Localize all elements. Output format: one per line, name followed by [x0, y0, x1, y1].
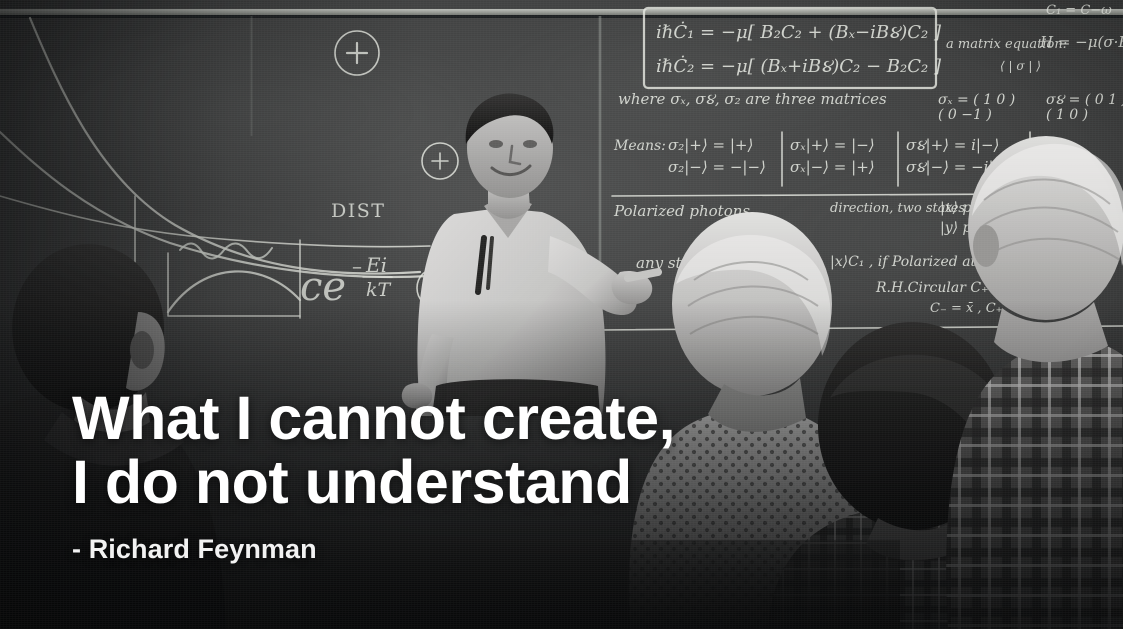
quote-block: What I cannot create, I do not understan… [72, 386, 772, 565]
chalk-boltzmann-factor: ce – Ei kT [300, 253, 392, 310]
chalk-ket-1: σ₂|+⟩ = |+⟩ [668, 136, 753, 154]
chalk-note-c1: C₁ = C−ω [1046, 3, 1112, 18]
quote-line-2: I do not understand [72, 450, 772, 514]
quote-image: DIST ce – Ei kT iℏĊ₁ = −μ[ B₂C₂ + (Bₓ−iB… [0, 0, 1123, 629]
svg-text:iℏĊ₁ = −μ[ B₂C₂ + (Bₓ−iB૪)C₂ ]: iℏĊ₁ = −μ[ B₂C₂ + (Bₓ−iB૪)C₂ ] [656, 20, 942, 43]
chalk-ket-3: σₓ|+⟩ = |−⟩ [790, 136, 875, 154]
student-right [940, 96, 1123, 629]
quote-attribution: - Richard Feynman [72, 534, 772, 565]
chalk-ket-4: σₓ|−⟩ = |+⟩ [790, 158, 875, 176]
chalk-note-expectation: ⟨ | σ | ⟩ [1000, 59, 1041, 73]
circled-plus-icon [335, 31, 379, 75]
chalk-ket-2: σ₂|−⟩ = −|−⟩ [668, 158, 766, 176]
quote-line-1: What I cannot create, [72, 386, 772, 450]
svg-text:kT: kT [366, 279, 392, 301]
svg-text:Ei: Ei [365, 253, 387, 277]
svg-text:ce: ce [300, 264, 346, 310]
chalk-note-hamiltonian: H = −μ(σ·B) [1039, 33, 1123, 51]
chalk-boxed-equations: iℏĊ₁ = −μ[ B₂C₂ + (Bₓ−iB૪)C₂ ] iℏĊ₂ = −μ… [644, 8, 942, 88]
chalk-label-dist: DIST [331, 200, 385, 222]
svg-text:iℏĊ₂ = −μ[ (Bₓ+iB૪)C₂ − B₂C₂ ]: iℏĊ₂ = −μ[ (Bₓ+iB૪)C₂ − B₂C₂ ] [656, 54, 942, 77]
svg-text:–: – [352, 254, 362, 278]
